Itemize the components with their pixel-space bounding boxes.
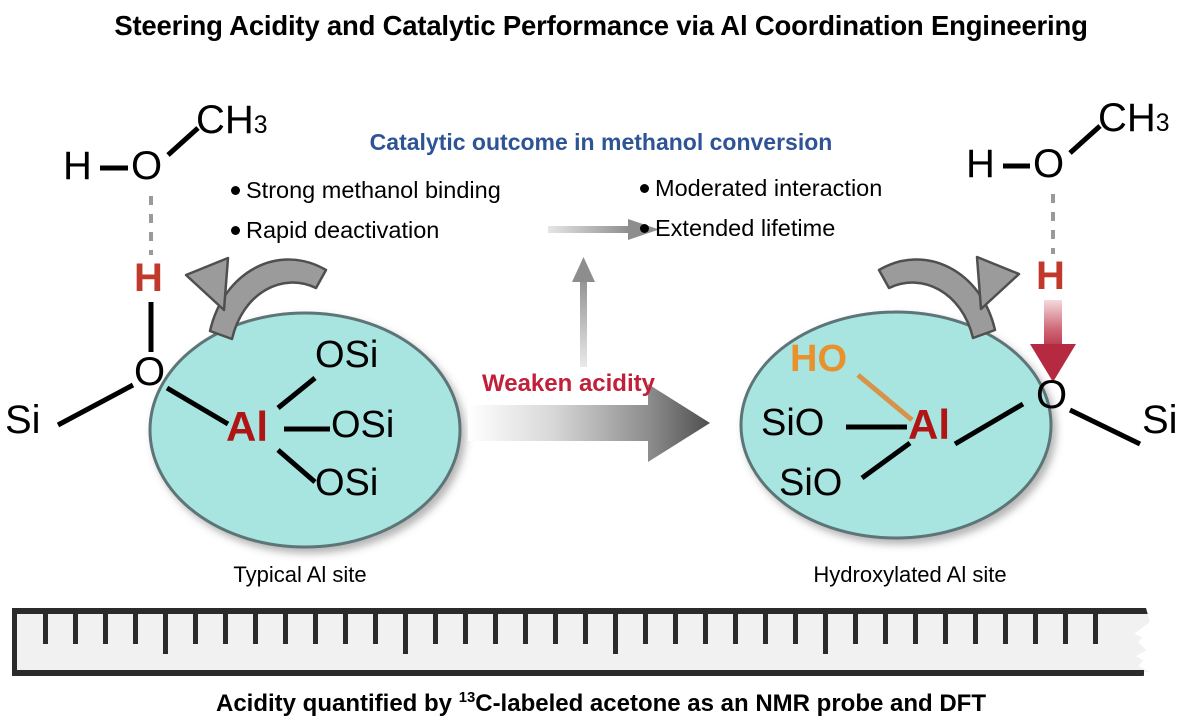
right-hydroxyl-label: HO [790,340,847,378]
left-ligand-osi-2: OSi [331,406,394,444]
graphical-abstract: Steering Acidity and Catalytic Performan… [0,0,1202,727]
left-ch3-subscript: 3 [254,112,268,139]
bullet-dot-icon [640,184,649,193]
bottom-caption: Acidity quantified by 13C-labeled aceton… [0,690,1202,718]
list-item: Extended lifetime [640,217,882,241]
left-ligand-osi-1: OSi [315,336,378,374]
right-ligand-sio-2: SiO [779,464,842,502]
list-item: Rapid deactivation [231,219,501,243]
bullet-dot-icon [231,186,240,195]
right-al-center-label: Al [908,404,950,446]
left-methanol-o-ch3-bond [168,128,198,155]
caption-superscript: 13 [459,690,476,706]
ruler-icon [12,608,1178,678]
right-outcome-bullets: Moderated interaction Extended lifetime [640,177,882,240]
right-bullet-2-label: Extended lifetime [655,217,835,241]
caption-post: C-labeled acetone as an NMR probe and DF… [475,690,986,717]
curved-arrow-left-head-icon [186,258,228,310]
bullet-dot-icon [231,226,240,235]
left-bridging-o-label: O [134,352,165,392]
left-site-caption: Typical Al site [150,562,450,588]
right-bridging-o-label: O [1036,375,1067,415]
right-ligand-sio-1: SiO [761,404,824,442]
left-methanol-h-label: H [63,146,92,186]
bullet-dot-icon [640,224,649,233]
left-terminal-si-label: Si [5,400,41,440]
down-arrow-gradient-icon [1030,300,1076,382]
right-methanol-h-label: H [966,144,995,184]
left-si-o-bond [58,385,133,425]
list-item: Moderated interaction [640,177,882,201]
right-methanol-o-ch3-bond [1070,126,1100,153]
left-bullet-1-label: Strong methanol binding [246,179,501,203]
right-o-si-bond [1070,410,1140,444]
right-methanol-ch3-label: CH3 [1098,98,1170,138]
left-ligand-osi-3: OSi [315,464,378,502]
right-methanol-o-label: O [1033,144,1064,184]
left-bullet-2-label: Rapid deactivation [246,219,439,243]
right-acid-proton-label: H [1036,256,1065,296]
curved-arrow-right-head-icon [977,257,1019,309]
left-ch3-text: CH [196,98,254,142]
right-terminal-si-label: Si [1142,400,1178,440]
catalytic-outcome-heading: Catalytic outcome in methanol conversion [301,129,901,156]
caption-pre: Acidity quantified by [216,690,459,717]
transition-arrows-group [468,219,710,462]
weaken-acidity-label: Weaken acidity [482,370,655,398]
left-methanol-o-label: O [131,146,162,186]
right-ch3-subscript: 3 [1156,110,1170,137]
up-arrow-icon [572,257,595,367]
left-outcome-bullets: Strong methanol binding Rapid deactivati… [231,179,501,242]
left-acid-proton-label: H [134,258,163,298]
left-al-center-label: Al [226,406,268,448]
right-bullet-1-label: Moderated interaction [655,177,882,201]
left-methanol-ch3-label: CH3 [196,100,268,140]
right-site-caption: Hydroxylated Al site [740,562,1080,588]
right-ch3-text: CH [1098,96,1156,140]
list-item: Strong methanol binding [231,179,501,203]
diagram-canvas [0,0,1202,727]
